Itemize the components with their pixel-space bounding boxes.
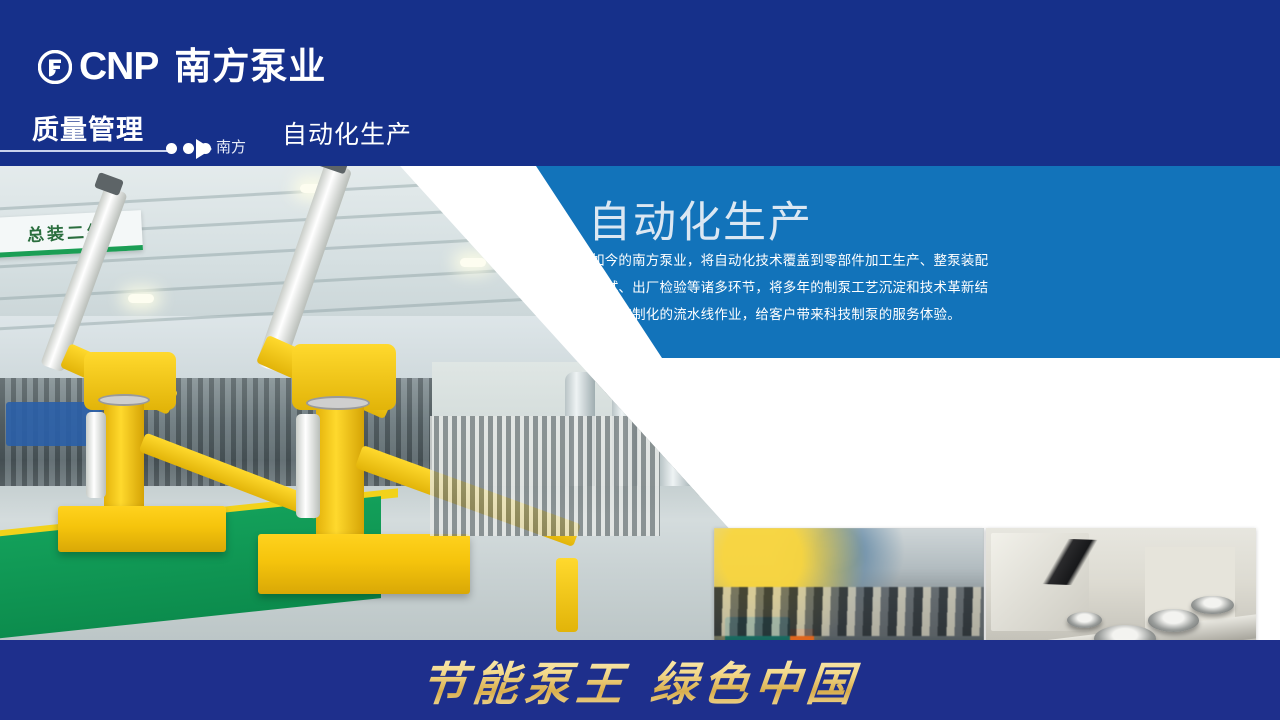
brand-lockup: CNP 南方泵业 [38,50,326,84]
cnp-circular-logo-icon [38,50,72,84]
panel-heading: 自动化生产 [588,188,813,250]
chevron-right-icon [196,139,212,159]
background-chain-rack [430,416,660,536]
breadcrumb-current: 自动化生产 [282,115,412,151]
stage-area: 总装二线 [0,166,1280,640]
line-sign: 总装二线 [0,210,143,258]
background-tank [660,366,694,490]
panel-paragraph: 如今的南方泵业，将自动化技术覆盖到零部件加工生产、整泵装配 调试、出厂检验等诸多… [591,248,1001,329]
brand-latin-text: CNP [79,50,158,84]
panel-paragraph-line: 如今的南方泵业，将自动化技术覆盖到零部件加工生产、整泵装配 [591,248,1001,275]
page-title: 质量管理 [32,108,144,147]
page-footer: 节能泵王 绿色中国 [0,640,1280,720]
panel-paragraph-line: 调试、出厂检验等诸多环节，将多年的制泵工艺沉淀和技术革新结 [591,275,1001,302]
page-header: CNP 南方泵业 质量管理 南方 自动化生产 [0,0,1280,166]
panel-paragraph-line: 合到定制化的流水线作业，给客户带来科技制泵的服务体验。 [591,302,1001,329]
footer-slogan: 节能泵王 绿色中国 [0,648,1280,714]
slide-root: CNP 南方泵业 质量管理 南方 自动化生产 总装二线 [0,0,1280,720]
thumbnail-image[interactable] [986,528,1256,640]
thumbnail-image[interactable] [714,528,984,640]
brand-chinese-text: 南方泵业 [174,50,326,84]
breadcrumb-label[interactable]: 南方 [216,136,246,157]
header-divider-rule [0,150,172,152]
